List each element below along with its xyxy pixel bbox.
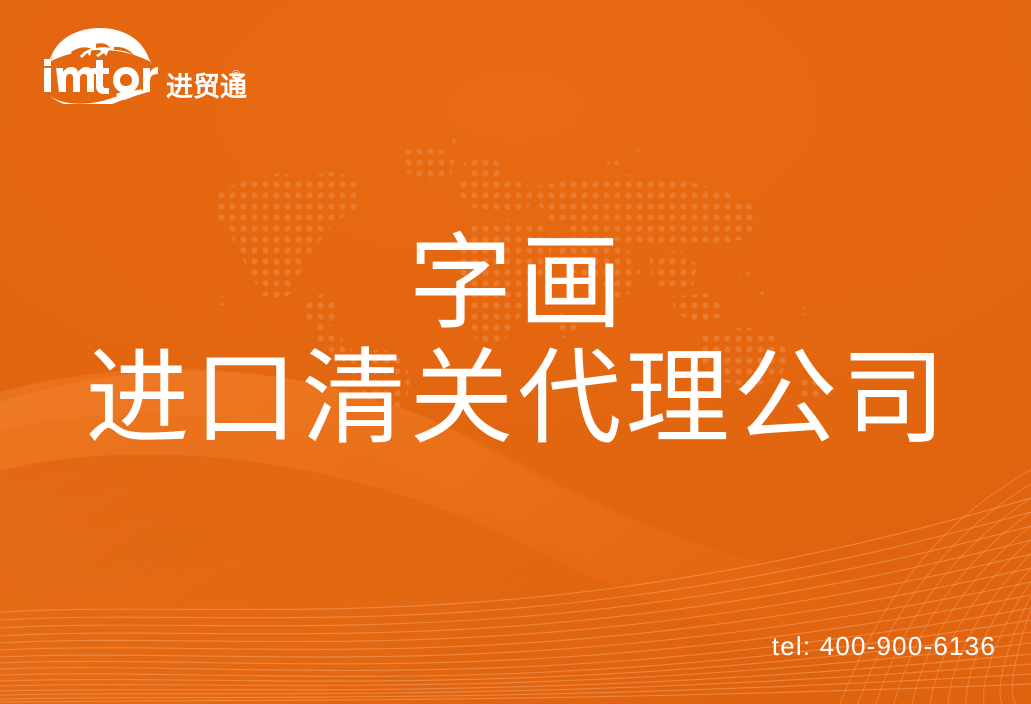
globe-swoosh-icon bbox=[38, 26, 160, 104]
brand-logo[interactable]: 进贸通 ® bbox=[38, 26, 243, 104]
headline-block: 字画 进口清关代理公司 bbox=[0, 228, 1031, 458]
promo-banner: 进贸通 ® 字画 进口清关代理公司 tel: 400-900-6136 bbox=[0, 0, 1031, 704]
headline-line-2: 进口清关代理公司 bbox=[0, 340, 1031, 458]
headline-line-1: 字画 bbox=[0, 228, 1031, 340]
trademark-symbol: ® bbox=[232, 70, 240, 81]
telephone-label: tel: 400-900-6136 bbox=[772, 633, 996, 659]
